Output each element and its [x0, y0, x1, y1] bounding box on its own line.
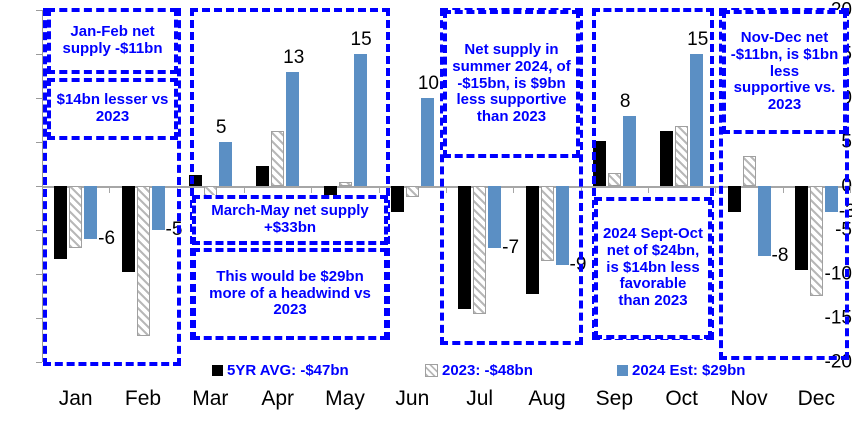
x-axis-label-jul: Jul: [447, 388, 513, 409]
x-axis-label-dec: Dec: [783, 388, 849, 409]
x-axis-label-oct: Oct: [649, 388, 715, 409]
x-axis-label-nov: Nov: [716, 388, 782, 409]
x-axis-label-sep: Sep: [581, 388, 647, 409]
legend-item-avg[interactable]: 5YR AVG: -$47bn: [212, 362, 349, 379]
bar-jun-y2023: [406, 186, 419, 197]
callout-march-may-headwind: This would be $29bn more of a headwind v…: [192, 248, 388, 340]
callout-nov-dec: Nov-Dec net -$11bn, is $1bn less support…: [722, 10, 847, 134]
x-axis-label-feb: Feb: [110, 388, 176, 409]
legend-swatch-icon: [617, 365, 628, 376]
bar-jun-y2024: [421, 98, 434, 186]
x-axis-label-may: May: [312, 388, 378, 409]
legend-swatch-icon: [212, 365, 223, 376]
x-axis-tick-mark: [850, 186, 851, 193]
legend-label: 2023: -$48bn: [442, 362, 533, 379]
x-axis-label-aug: Aug: [514, 388, 580, 409]
callout-summer-2024: Net supply in summer 2024, of -$15bn, is…: [443, 10, 580, 158]
bar-jun-avg: [391, 186, 404, 212]
legend-item-y2024[interactable]: 2024 Est: $29bn: [617, 362, 745, 379]
legend-label: 2024 Est: $29bn: [632, 362, 745, 379]
callout-march-may-net: March-May net supply +$33bn: [192, 195, 388, 245]
callout-jan-feb-lesser: $14bn lesser vs 2023: [47, 78, 178, 140]
legend-swatch-icon: [425, 364, 438, 377]
x-axis-label-jan: Jan: [43, 388, 109, 409]
callout-sept-oct: 2024 Sept-Oct net of $24bn, is $14bn les…: [594, 197, 712, 339]
data-label-jun: 10: [418, 74, 439, 93]
legend-item-y2023[interactable]: 2023: -$48bn: [425, 362, 533, 379]
x-axis-label-jun: Jun: [379, 388, 445, 409]
legend-label: 5YR AVG: -$47bn: [227, 362, 349, 379]
x-axis-label-mar: Mar: [177, 388, 243, 409]
x-axis-label-apr: Apr: [245, 388, 311, 409]
callout-jan-feb-net: Jan-Feb net supply -$11bn: [47, 8, 178, 74]
